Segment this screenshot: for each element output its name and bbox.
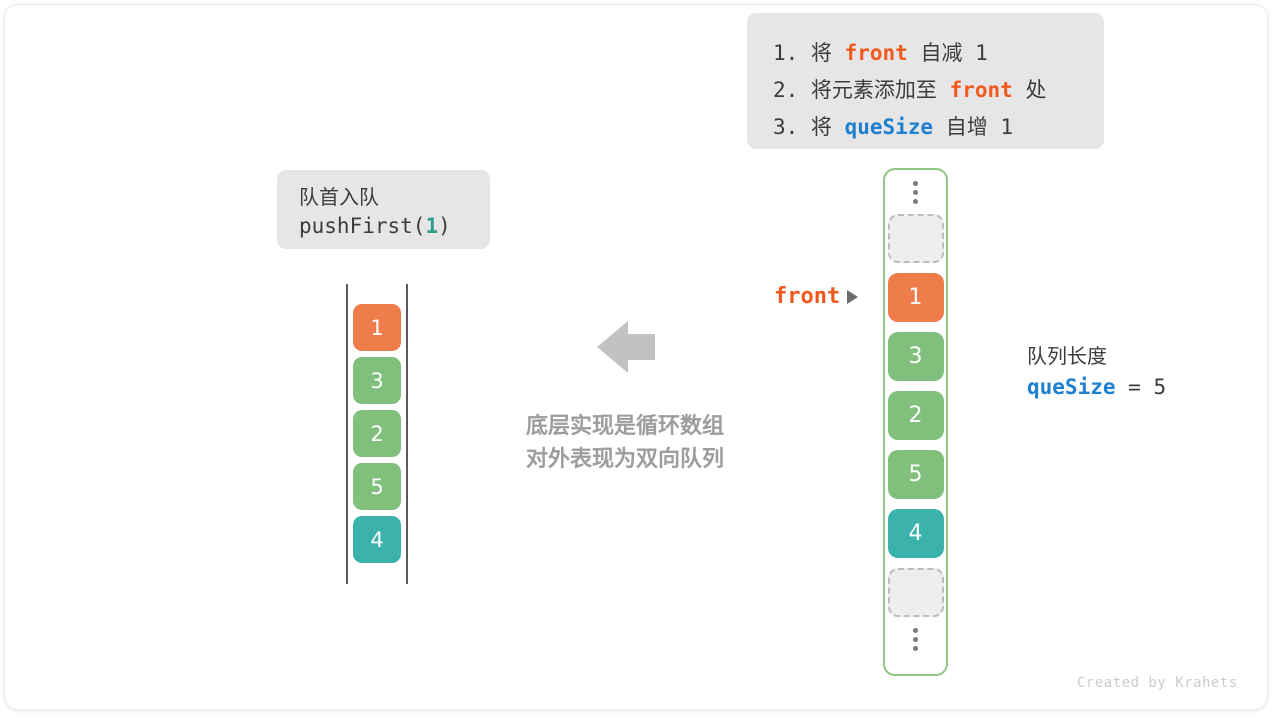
diagram-canvas: 1. 将 front 自减 1 2. 将元素添加至 front 处 3. 将 q… <box>0 0 1280 720</box>
step-3-suffix: 自增 1 <box>933 115 1013 139</box>
center-caption-line-1: 底层实现是循环数组 <box>501 410 749 443</box>
left-array-cell-4: 4 <box>353 516 401 563</box>
queue-size-var: queSize <box>1027 375 1116 399</box>
arrow-head <box>597 321 628 373</box>
circular-array-cell-3: 2 <box>888 391 944 440</box>
left-array-cell-0: 1 <box>353 304 401 351</box>
arrow-left-icon <box>597 321 655 373</box>
operation-code: pushFirst(1) <box>299 211 468 241</box>
circular-array-empty-slot-0 <box>888 214 944 263</box>
step-1-prefix: 1. 将 <box>773 41 845 65</box>
step-line-2: 2. 将元素添加至 front 处 <box>773 72 1078 109</box>
center-caption: 底层实现是循环数组 对外表现为双向队列 <box>501 410 749 476</box>
circular-array-cell-1: 1 <box>888 273 944 322</box>
queue-size-equals: = <box>1128 375 1141 399</box>
front-pointer: front <box>774 284 858 309</box>
operation-code-suffix: ) <box>438 214 451 238</box>
step-2-suffix: 处 <box>1013 78 1047 102</box>
step-2-keyword: front <box>950 78 1013 102</box>
left-array-view: 13254 <box>346 284 408 584</box>
circular-array-cell-5: 4 <box>888 509 944 558</box>
circular-array-cell-2: 3 <box>888 332 944 381</box>
circular-array-cell-4: 5 <box>888 450 944 499</box>
queue-size-label: 队列长度 <box>1027 341 1166 371</box>
operation-note-box: 队首入队 pushFirst(1) <box>277 170 490 249</box>
operation-code-prefix: pushFirst( <box>299 214 425 238</box>
step-line-1: 1. 将 front 自减 1 <box>773 35 1078 72</box>
queue-size-value: 5 <box>1153 375 1166 399</box>
center-caption-line-2: 对外表现为双向队列 <box>501 443 749 476</box>
operation-title: 队首入队 <box>299 184 468 211</box>
left-rail <box>346 284 348 584</box>
vertical-ellipsis-icon-top <box>913 170 918 214</box>
step-1-keyword: front <box>845 41 908 65</box>
queue-size-expression: queSize = 5 <box>1027 371 1166 403</box>
queue-size-info: 队列长度 queSize = 5 <box>1027 341 1166 403</box>
left-array-cell-3: 5 <box>353 463 401 510</box>
step-3-prefix: 3. 将 <box>773 115 845 139</box>
circular-array-empty-slot-6 <box>888 568 944 617</box>
left-array-cell-1: 3 <box>353 357 401 404</box>
triangle-right-icon <box>847 290 858 304</box>
operation-code-arg: 1 <box>425 214 438 238</box>
step-1-suffix: 自减 1 <box>908 41 988 65</box>
front-pointer-label: front <box>774 284 840 309</box>
right-rail <box>406 284 408 584</box>
left-array-cells: 13254 <box>353 304 401 563</box>
credit-text: Created by Krahets <box>1077 675 1238 691</box>
vertical-ellipsis-icon-bottom <box>913 617 918 661</box>
left-array-cell-2: 2 <box>353 410 401 457</box>
step-line-3: 3. 将 queSize 自增 1 <box>773 109 1078 146</box>
steps-note-box: 1. 将 front 自减 1 2. 将元素添加至 front 处 3. 将 q… <box>747 13 1104 149</box>
step-2-prefix: 2. 将元素添加至 <box>773 78 950 102</box>
step-3-keyword: queSize <box>845 115 934 139</box>
circular-array-cells: 13254 <box>888 214 944 617</box>
circular-array-column: 13254 <box>883 168 948 676</box>
arrow-tail <box>627 334 655 360</box>
